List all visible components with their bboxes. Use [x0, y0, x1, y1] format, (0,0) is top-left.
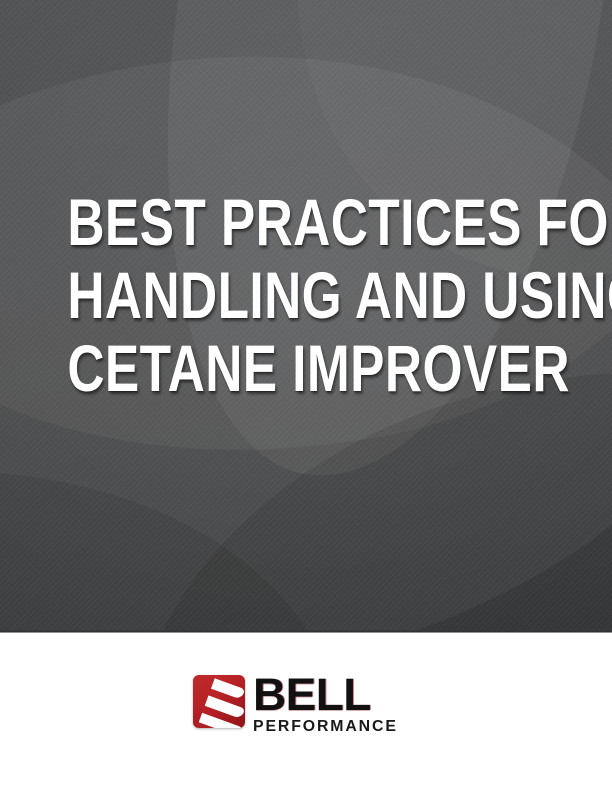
bell-performance-swoosh-icon: [193, 675, 245, 728]
page-title: BEST PRACTICES FOR HANDLING AND USING CE…: [0, 186, 612, 405]
brand-logo: BELL PERFORMANCE: [193, 675, 419, 731]
brand-tagline: PERFORMANCE: [253, 718, 398, 735]
title-line-3: CETANE IMPROVER: [67, 332, 544, 405]
brand-wordmark: BELL PERFORMANCE: [253, 675, 399, 735]
cover-page: BEST PRACTICES FOR HANDLING AND USING CE…: [0, 0, 612, 792]
brand-name: BELL: [253, 675, 371, 715]
footer-band: BELL PERFORMANCE: [0, 633, 612, 792]
title-line-1: BEST PRACTICES FOR: [67, 186, 544, 259]
title-line-2: HANDLING AND USING: [67, 259, 544, 332]
